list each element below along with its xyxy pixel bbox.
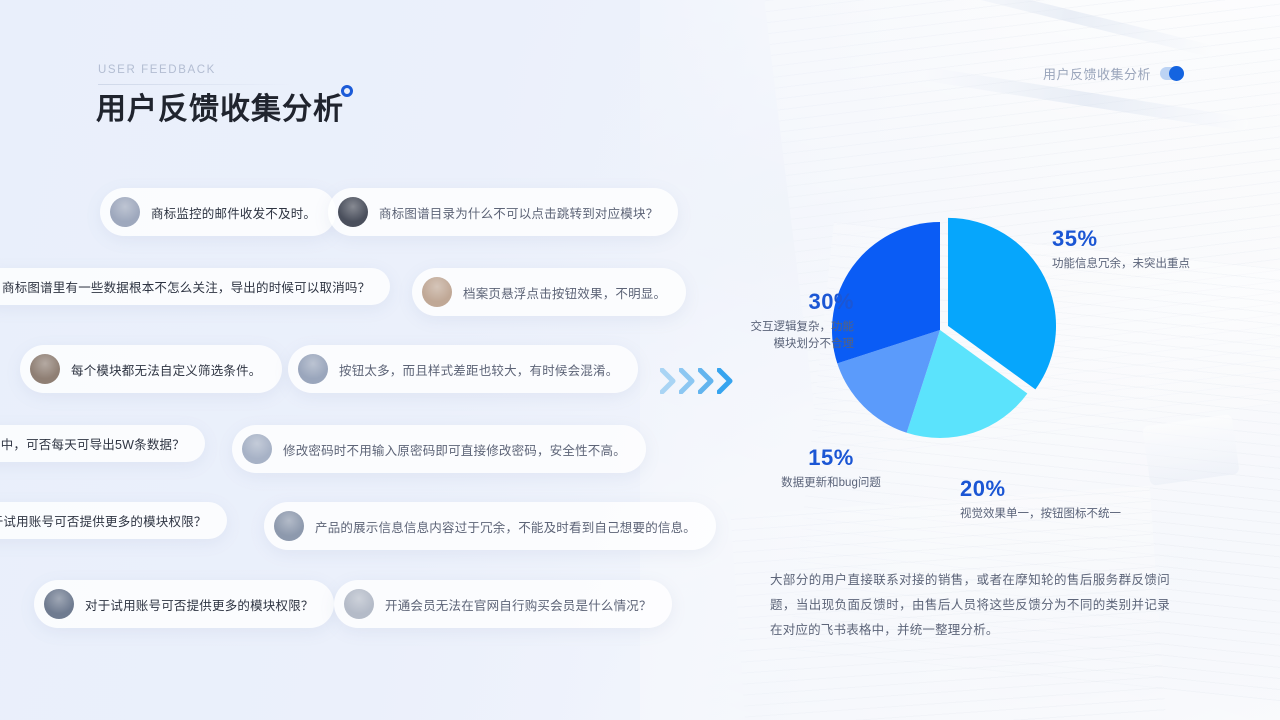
pie-label-description: 功能信息冗余，未突出重点 — [1052, 256, 1190, 273]
pie-label-20: 20% 视觉效果单一，按钮图标不统一 — [960, 478, 1160, 523]
feedback-bubble[interactable]: 商标监控的邮件收发不及时。 — [100, 188, 336, 236]
avatar — [274, 511, 304, 541]
pie-label-30: 30% 交互逻辑复杂，功能 模块划分不合理 — [718, 291, 854, 354]
feedback-bubble[interactable]: 商标图谱目录为什么不可以点击跳转到对应模块？ — [328, 188, 678, 236]
feedback-bubble[interactable]: 每个模块都无法自定义筛选条件。 — [20, 345, 282, 393]
page-title: 用户反馈收集分析 — [96, 84, 344, 128]
pie-label-35: 35% 功能信息冗余，未突出重点 — [1052, 228, 1190, 273]
feedback-bubble[interactable]: 对于试用账号可否提供更多的模块权限？ — [0, 502, 227, 539]
pie-label-percent: 30% — [718, 291, 854, 313]
summary-paragraph: 大部分的用户直接联系对接的销售，或者在摩知轮的售后服务群反馈问题，当出现负面反馈… — [770, 568, 1170, 643]
feedback-bubble[interactable]: 产品的展示信息信息内容过于冗余，不能及时看到自己想要的信息。 — [264, 502, 716, 550]
pie-label-description: 视觉效果单一，按钮图标不统一 — [960, 506, 1160, 523]
toggle-on-icon[interactable] — [1160, 67, 1184, 80]
feedback-bubble[interactable]: 按钮太多，而且样式差距也较大，有时候会混淆。 — [288, 345, 638, 393]
feedback-bubble[interactable]: 对于试用账号可否提供更多的模块权限？ — [34, 580, 334, 628]
feedback-bubble[interactable]: 修改密码时不用输入原密码即可直接修改密码，安全性不高。 — [232, 425, 646, 473]
avatar — [298, 354, 328, 384]
feedback-bubble-text: 修改密码时不用输入原密码即可直接修改密码，安全性不高。 — [283, 440, 626, 459]
avatar — [242, 434, 272, 464]
feedback-bubble-text: 商标图谱里有一些数据根本不怎么关注，导出的时候可以取消吗？ — [2, 277, 370, 296]
avatar — [30, 354, 60, 384]
circle-badge-icon — [341, 85, 353, 97]
header-right-label: 用户反馈收集分析 — [1043, 64, 1151, 83]
feedback-bubble-text: 对于试用账号可否提供更多的模块权限？ — [0, 511, 207, 530]
pie-label-percent: 35% — [1052, 228, 1190, 250]
feedback-bubble[interactable]: 开通会员无法在官网自行购买会员是什么情况？ — [334, 580, 672, 628]
feedback-bubble-list: 商标监控的邮件收发不及时。商标图谱目录为什么不可以点击跳转到对应模块？商标图谱里… — [0, 180, 700, 630]
feedback-bubble-text: 开通会员无法在官网自行购买会员是什么情况？ — [385, 595, 652, 614]
feedback-bubble[interactable]: 块中，可否每天可导出5W条数据？ — [0, 425, 205, 462]
feedback-bubble-text: 商标图谱目录为什么不可以点击跳转到对应模块？ — [379, 203, 658, 222]
feedback-bubble-text: 商标监控的邮件收发不及时。 — [151, 203, 316, 222]
feedback-bubble-text: 按钮太多，而且样式差距也较大，有时候会混淆。 — [339, 360, 618, 379]
feedback-bubble-text: 档案页悬浮点击按钮效果，不明显。 — [463, 283, 666, 302]
pie-svg — [830, 205, 1080, 455]
avatar — [338, 197, 368, 227]
page-kicker: USER FEEDBACK — [98, 64, 216, 76]
feedback-bubble-text: 块中，可否每天可导出5W条数据？ — [0, 434, 185, 453]
pie-label-15: 15% 数据更新和bug问题 — [766, 447, 896, 492]
feedback-bubble[interactable]: 档案页悬浮点击按钮效果，不明显。 — [412, 268, 686, 316]
feedback-category-pie-chart — [830, 205, 1080, 455]
pie-label-percent: 15% — [766, 447, 896, 469]
pie-label-description: 数据更新和bug问题 — [766, 475, 896, 492]
avatar — [344, 589, 374, 619]
avatar — [44, 589, 74, 619]
avatar — [110, 197, 140, 227]
feedback-bubble-text: 每个模块都无法自定义筛选条件。 — [71, 360, 262, 379]
feedback-bubble-text: 对于试用账号可否提供更多的模块权限？ — [85, 595, 314, 614]
header-right-group: 用户反馈收集分析 — [1043, 64, 1184, 83]
avatar — [422, 277, 452, 307]
feedback-bubble[interactable]: 商标图谱里有一些数据根本不怎么关注，导出的时候可以取消吗？ — [0, 268, 390, 305]
chevrons-right-icon — [660, 368, 734, 394]
pie-label-description: 交互逻辑复杂，功能 模块划分不合理 — [718, 319, 854, 354]
pie-label-percent: 20% — [960, 478, 1160, 500]
feedback-bubble-text: 产品的展示信息信息内容过于冗余，不能及时看到自己想要的信息。 — [315, 517, 696, 536]
